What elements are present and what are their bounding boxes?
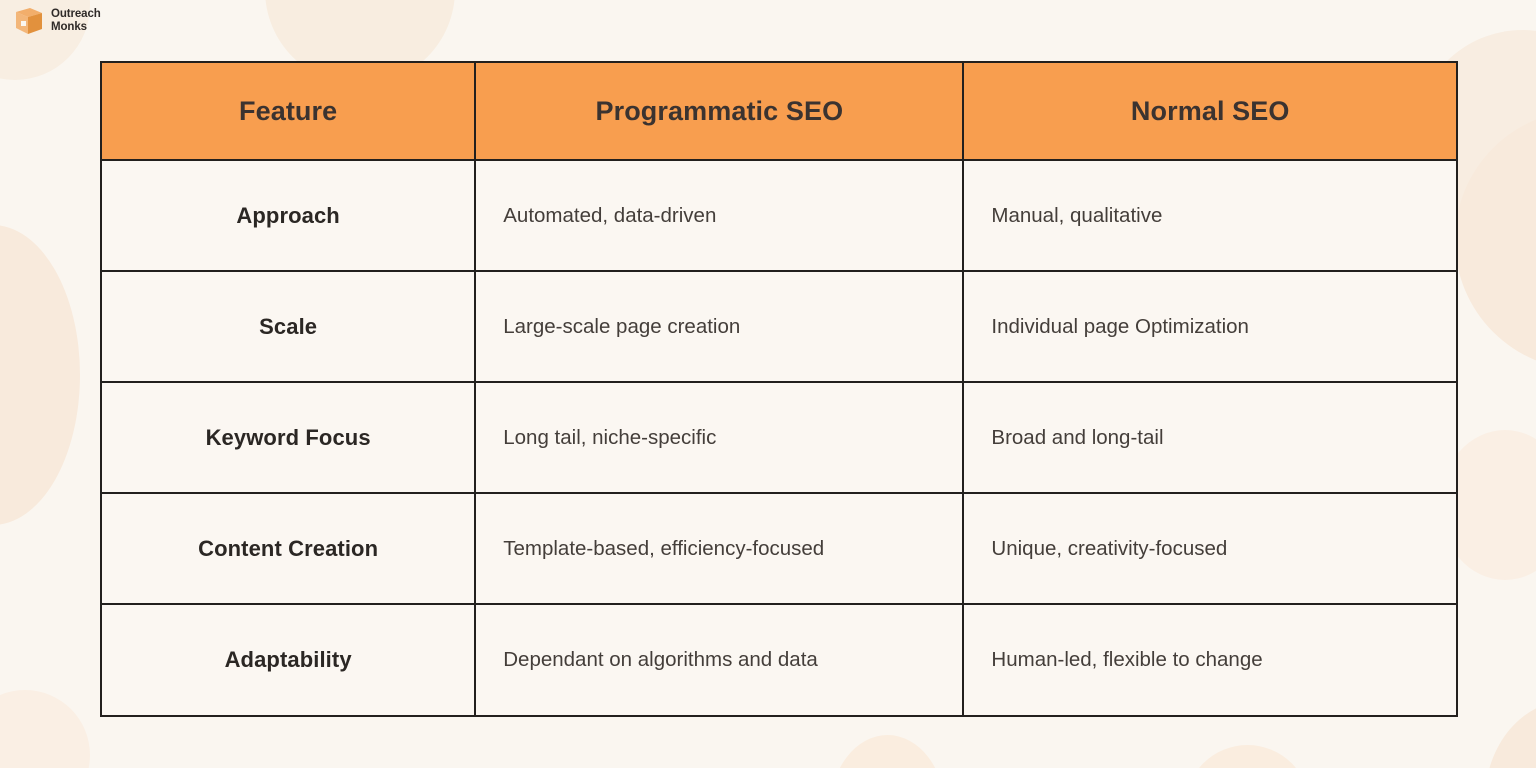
column-header-feature: Feature — [101, 62, 475, 160]
row-label-adaptability: Adaptability — [101, 604, 475, 716]
table-row: Content Creation Template-based, efficie… — [101, 493, 1457, 604]
cell-scale-normal: Individual page Optimization — [963, 271, 1457, 382]
table-row: Approach Automated, data-driven Manual, … — [101, 160, 1457, 271]
row-label-approach: Approach — [101, 160, 475, 271]
row-label-scale: Scale — [101, 271, 475, 382]
cell-adaptability-programmatic: Dependant on algorithms and data — [475, 604, 963, 716]
cell-keyword-focus-normal: Broad and long-tail — [963, 382, 1457, 493]
cell-keyword-focus-programmatic: Long tail, niche-specific — [475, 382, 963, 493]
column-header-normal-seo: Normal SEO — [963, 62, 1457, 160]
cell-approach-programmatic: Automated, data-driven — [475, 160, 963, 271]
table-header: Feature Programmatic SEO Normal SEO — [101, 62, 1457, 160]
decorative-circle-bottom-right — [1485, 700, 1536, 768]
cell-adaptability-normal: Human-led, flexible to change — [963, 604, 1457, 716]
outreach-monks-cube-logo-icon — [14, 6, 44, 36]
decorative-circle-left — [0, 225, 80, 525]
cell-approach-normal: Manual, qualitative — [963, 160, 1457, 271]
row-label-keyword-focus: Keyword Focus — [101, 382, 475, 493]
row-label-content-creation: Content Creation — [101, 493, 475, 604]
brand-name-line-2: Monks — [51, 21, 87, 33]
cell-scale-programmatic: Large-scale page creation — [475, 271, 963, 382]
cell-content-creation-normal: Unique, creativity-focused — [963, 493, 1457, 604]
decorative-circle-right-lower — [1455, 110, 1536, 370]
table-body: Approach Automated, data-driven Manual, … — [101, 160, 1457, 716]
brand-name: Outreach Monks — [51, 8, 101, 34]
decorative-circle-bottom-left — [0, 690, 90, 768]
table-row: Keyword Focus Long tail, niche-specific … — [101, 382, 1457, 493]
seo-comparison-table: Feature Programmatic SEO Normal SEO Appr… — [100, 61, 1458, 717]
decorative-circle-bottom-right-inner — [1185, 745, 1310, 768]
table-row: Adaptability Dependant on algorithms and… — [101, 604, 1457, 716]
table-header-row: Feature Programmatic SEO Normal SEO — [101, 62, 1457, 160]
table-row: Scale Large-scale page creation Individu… — [101, 271, 1457, 382]
brand-name-line-1: Outreach — [51, 8, 101, 20]
brand-logo[interactable]: Outreach Monks — [14, 6, 101, 36]
decorative-circle-bottom-center — [830, 735, 945, 768]
cell-content-creation-programmatic: Template-based, efficiency-focused — [475, 493, 963, 604]
column-header-programmatic-seo: Programmatic SEO — [475, 62, 963, 160]
comparison-table-container: Feature Programmatic SEO Normal SEO Appr… — [100, 61, 1458, 717]
